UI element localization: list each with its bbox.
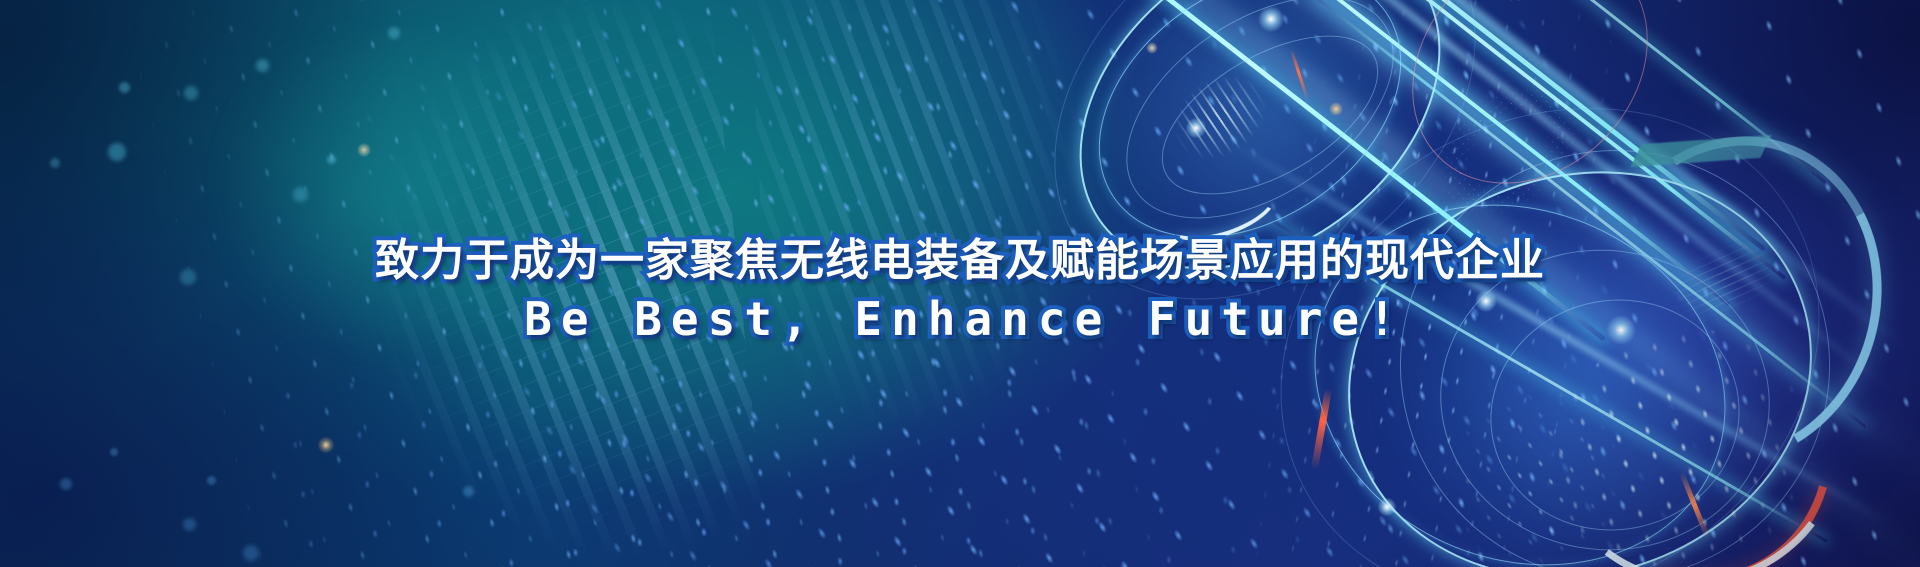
bokeh-9 <box>388 27 400 39</box>
bokeh-13 <box>207 476 216 485</box>
bokeh-3 <box>184 86 198 100</box>
bokeh-4 <box>256 59 269 72</box>
sparkle-node-3 <box>1378 498 1396 516</box>
sparkle-node-4 <box>318 437 334 453</box>
bokeh-5 <box>327 155 336 164</box>
bokeh-7 <box>293 187 308 202</box>
bokeh-10 <box>60 478 72 490</box>
bokeh-14 <box>463 486 474 497</box>
bokeh-6 <box>50 158 60 168</box>
headline-block: 致力于成为一家聚焦无线电装备及赋能场景应用的现代企业 Be Best, Enha… <box>0 236 1920 349</box>
bokeh-15 <box>110 448 118 456</box>
sparkle-node-7 <box>357 143 371 157</box>
hero-banner: 致力于成为一家聚焦无线电装备及赋能场景应用的现代企业 Be Best, Enha… <box>0 0 1920 567</box>
orbit-node-glow-upper <box>1258 6 1284 32</box>
headline-english: Be Best, Enhance Future! <box>0 291 1920 349</box>
bokeh-1 <box>108 143 126 161</box>
headline-chinese: 致力于成为一家聚焦无线电装备及赋能场景应用的现代企业 <box>0 236 1920 285</box>
sparkle-node-6 <box>1146 42 1158 54</box>
sparkle-node-5 <box>1329 102 1343 116</box>
diagonal-dash-texture-mid <box>749 0 1112 426</box>
bokeh-2 <box>119 82 130 93</box>
bokeh-11 <box>183 518 196 531</box>
bokeh-12 <box>243 545 259 561</box>
